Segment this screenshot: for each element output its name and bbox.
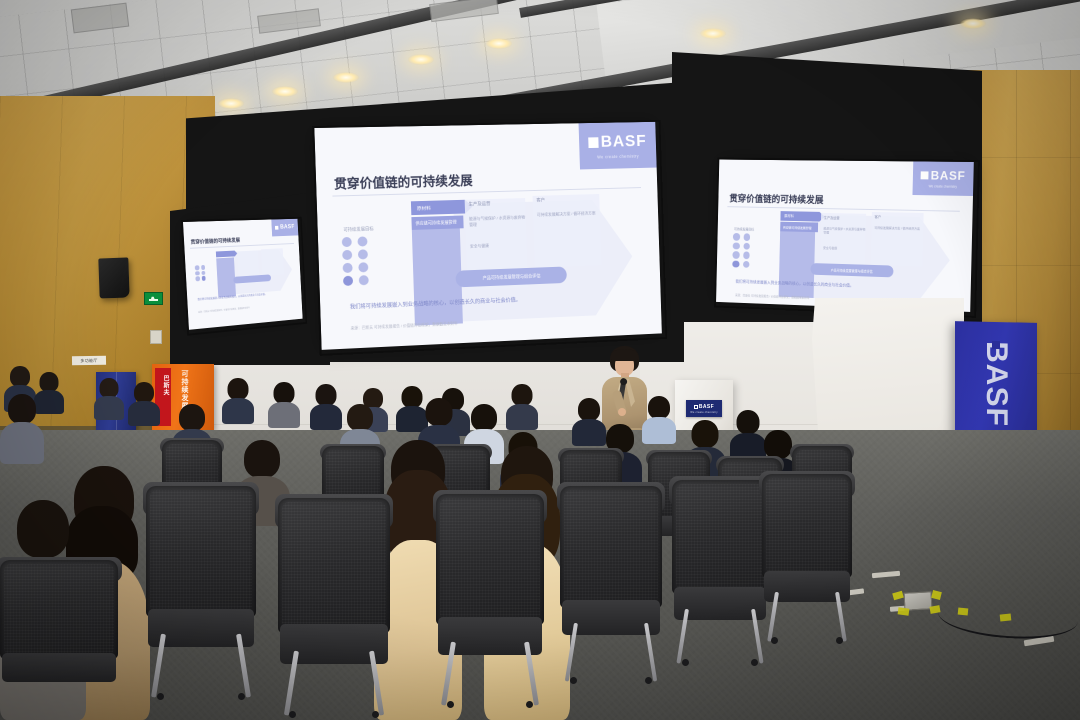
audience-person bbox=[0, 394, 44, 464]
wall-control-plate bbox=[150, 330, 162, 344]
wall-speaker bbox=[98, 257, 129, 298]
left-screen-frame bbox=[181, 217, 307, 336]
right-screen-frame bbox=[714, 158, 980, 318]
presenter-hand bbox=[618, 408, 626, 416]
chair[interactable] bbox=[762, 474, 852, 642]
conference-room-photo: BASF We create chemistry 贯穿价值链的可持续发展 可持续… bbox=[0, 0, 1080, 720]
main-screen-frame bbox=[312, 120, 667, 356]
audience-person bbox=[94, 378, 124, 420]
ceiling-downlight bbox=[960, 18, 986, 29]
audience-person bbox=[128, 382, 160, 426]
room-sign: 多功能厅 bbox=[72, 356, 106, 366]
ceiling-downlight bbox=[700, 28, 726, 39]
basf-square-icon bbox=[694, 405, 698, 409]
exit-running-man-icon bbox=[149, 296, 158, 301]
chair[interactable] bbox=[278, 498, 390, 716]
basf-logo-banner: BASF bbox=[981, 338, 1011, 425]
audience-person bbox=[310, 384, 342, 430]
audience-person bbox=[506, 384, 538, 430]
chair[interactable] bbox=[0, 560, 118, 720]
ceiling-downlight bbox=[486, 38, 512, 49]
chair[interactable] bbox=[560, 486, 662, 682]
ceiling-downlight bbox=[408, 54, 434, 65]
chair[interactable] bbox=[146, 486, 256, 698]
gaffer-tape bbox=[898, 607, 910, 615]
exit-sign bbox=[144, 292, 163, 305]
audience-person bbox=[222, 378, 254, 424]
ceiling-downlight bbox=[272, 86, 298, 97]
chair[interactable] bbox=[672, 480, 768, 664]
podium-basf-plaque: BASF We create chemistry bbox=[686, 400, 722, 417]
audience-person bbox=[642, 396, 676, 444]
audience-person bbox=[268, 382, 300, 428]
ceiling-downlight bbox=[218, 98, 244, 109]
chair[interactable] bbox=[436, 494, 544, 706]
presenter-fringe bbox=[611, 349, 638, 361]
ceiling-downlight bbox=[333, 72, 359, 83]
